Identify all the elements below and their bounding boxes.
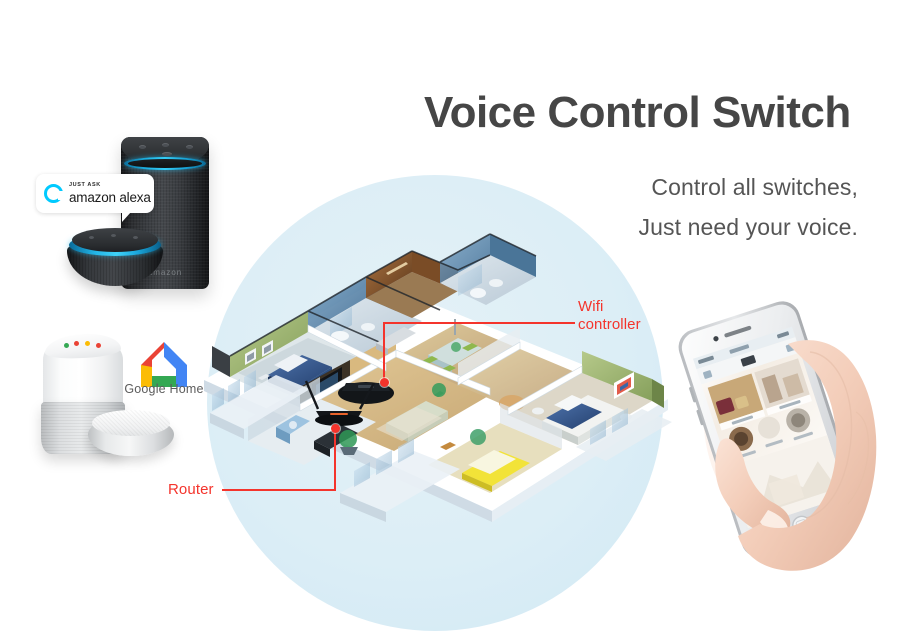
amazon-alexa-badge: JUST ASK amazon alexa: [36, 174, 154, 213]
callout-router-leader-vertical: [334, 428, 336, 491]
google-home-led-red: [74, 341, 79, 346]
echo-dot-top-surface: [72, 228, 158, 252]
callout-wifi-controller: Wifi controller: [578, 298, 641, 333]
subtitle-line-1: Control all switches,: [438, 168, 858, 208]
echo-volume-up-button[interactable]: [186, 145, 193, 149]
callout-wifi-line1: Wifi: [578, 298, 641, 316]
callout-wifi-leader-vertical: [383, 322, 385, 382]
callout-router-leader-horizontal: [222, 489, 336, 491]
google-home-mini: [88, 410, 174, 458]
google-home-mini-fabric-texture: [92, 410, 170, 436]
alexa-badge-line1: JUST ASK: [69, 183, 151, 189]
alexa-badge-line2: amazon alexa: [69, 191, 151, 205]
callout-router: Router: [168, 481, 214, 499]
echo-dot-volume-down-button[interactable]: [89, 236, 94, 239]
echo-action-button[interactable]: [162, 143, 169, 147]
alexa-logo-icon: [44, 184, 63, 203]
callout-wifi-leader-horizontal: [383, 322, 575, 324]
scene-root: Voice Control Switch Control all switche…: [0, 0, 900, 600]
alexa-badge-text: JUST ASK amazon alexa: [69, 183, 151, 204]
google-home-led-green: [64, 343, 69, 348]
room-upper-bath: [440, 234, 536, 305]
smartphone-in-hand: [660, 292, 900, 600]
callout-wifi-endpoint-dot: [380, 378, 389, 387]
echo-volume-down-button[interactable]: [139, 145, 146, 149]
google-home-led-red-2: [96, 343, 101, 348]
page-title: Voice Control Switch: [424, 88, 870, 137]
callout-wifi-line2: controller: [578, 316, 641, 334]
google-home-mini-top[interactable]: [92, 410, 170, 436]
google-home-led-yellow: [85, 341, 90, 346]
echo-top-surface: [128, 159, 202, 168]
floorplan-illustration: [190, 215, 680, 575]
callout-router-line1: Router: [168, 481, 214, 499]
callout-router-endpoint-dot: [331, 424, 340, 433]
amazon-echo-dot: [67, 228, 163, 290]
google-home-logo-label: Google Home: [118, 382, 210, 396]
echo-dot-volume-up-button[interactable]: [133, 236, 138, 239]
echo-mic-mute-button[interactable]: [162, 152, 172, 156]
echo-dot-action-button[interactable]: [111, 234, 116, 237]
